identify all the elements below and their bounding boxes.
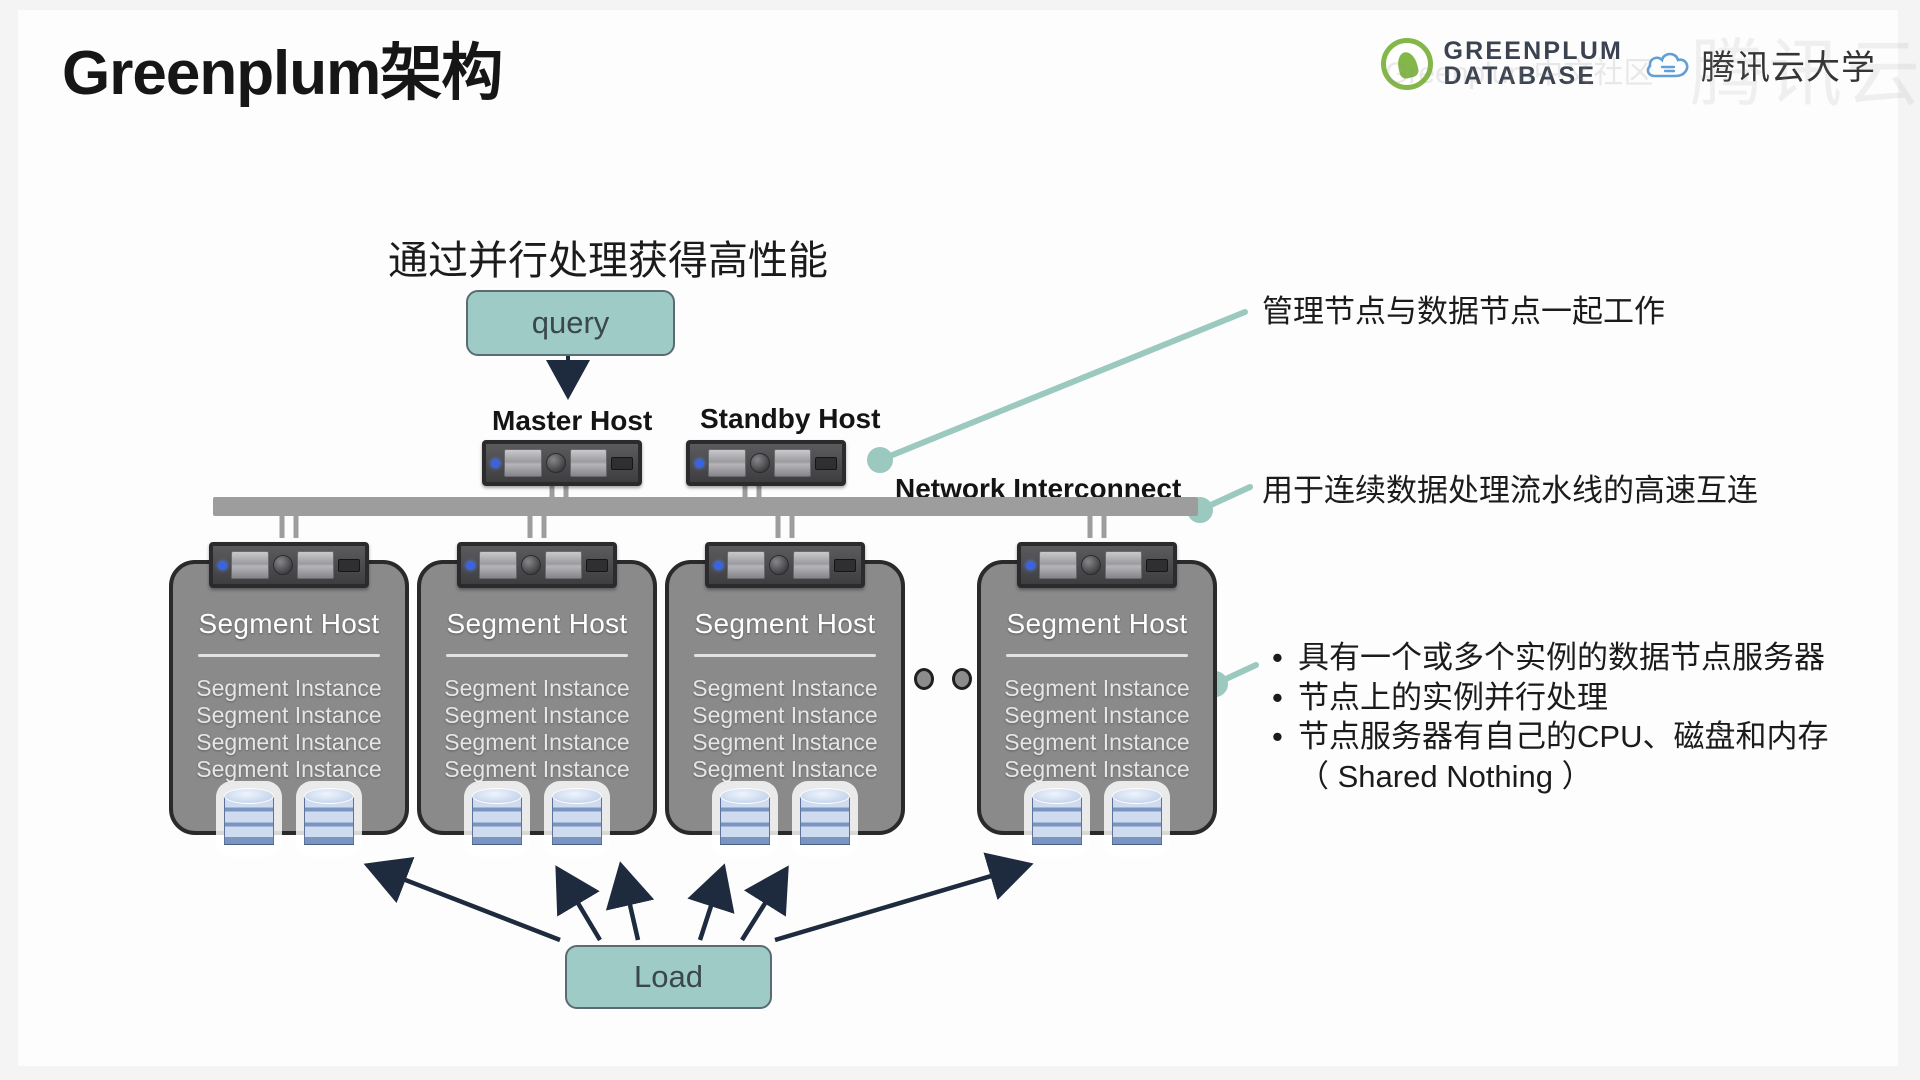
- query-box[interactable]: query: [466, 290, 675, 356]
- dial-knob-icon: [546, 453, 566, 473]
- database-disk-icon: [544, 781, 610, 857]
- drive-bay-icon: [479, 551, 517, 579]
- segment-instance-item: Segment Instance: [981, 756, 1213, 783]
- drive-bay-icon: [774, 449, 812, 477]
- drive-bay-icon: [504, 449, 542, 477]
- database-disk-icon: [216, 781, 282, 857]
- segment-host-divider: [198, 654, 380, 657]
- dial-knob-icon: [750, 453, 770, 473]
- port-icon: [586, 559, 608, 572]
- drive-bay-icon: [231, 551, 269, 579]
- drive-bay-icon: [297, 551, 335, 579]
- segment-host-card[interactable]: Segment Host Segment Instance Segment In…: [417, 560, 657, 835]
- database-disk-icon: [1104, 781, 1170, 857]
- bullet-marker-icon: •: [1272, 717, 1282, 757]
- port-icon: [611, 457, 633, 470]
- segment-instance-item: Segment Instance: [421, 702, 653, 729]
- segment-instance-item: Segment Instance: [421, 675, 653, 702]
- segment-host-card[interactable]: Segment Host Segment Instance Segment In…: [169, 560, 409, 835]
- segment-host-server-icon: [209, 542, 369, 588]
- segment-instance-list: Segment Instance Segment Instance Segmen…: [173, 675, 405, 784]
- segment-host-divider: [694, 654, 876, 657]
- segment-instance-item: Segment Instance: [669, 702, 901, 729]
- load-fanout-arrows: [372, 866, 1025, 940]
- drive-bay-icon: [1105, 551, 1143, 579]
- bullet-text: 节点服务器有自己的CPU、磁盘和内存: [1298, 717, 1828, 757]
- power-led-icon: [218, 561, 227, 570]
- power-led-icon: [1026, 561, 1035, 570]
- disk-pair: [216, 781, 362, 857]
- port-icon: [338, 559, 360, 572]
- segment-instance-item: Segment Instance: [421, 756, 653, 783]
- segment-instance-item: Segment Instance: [173, 756, 405, 783]
- bullet-text: 节点上的实例并行处理: [1298, 678, 1608, 718]
- segment-instance-item: Segment Instance: [173, 675, 405, 702]
- segment-instance-list: Segment Instance Segment Instance Segmen…: [669, 675, 901, 784]
- bullet-item: • 节点上的实例并行处理: [1272, 678, 1828, 718]
- power-led-icon: [466, 561, 475, 570]
- slide-canvas: Greenplum架构 GREENPLUM DATABASE 腾讯云大学 Gre…: [0, 0, 1920, 1080]
- riser-group-bottom: [282, 514, 1104, 538]
- segment-host-title: Segment Host: [669, 608, 901, 640]
- bullet-marker-icon: •: [1272, 678, 1282, 718]
- segment-host-server-icon: [1017, 542, 1177, 588]
- ellipsis-dot: [952, 668, 972, 690]
- power-led-icon: [695, 459, 704, 468]
- dial-knob-icon: [1081, 555, 1101, 575]
- segment-host-title: Segment Host: [981, 608, 1213, 640]
- segment-instance-item: Segment Instance: [173, 702, 405, 729]
- segment-instance-list: Segment Instance Segment Instance Segmen…: [421, 675, 653, 784]
- drive-bay-icon: [793, 551, 831, 579]
- drive-bay-icon: [1039, 551, 1077, 579]
- port-icon: [1146, 559, 1168, 572]
- disk-pair: [464, 781, 610, 857]
- callout-text-management-nodes: 管理节点与数据节点一起工作: [1262, 286, 1665, 331]
- segment-instance-item: Segment Instance: [669, 675, 901, 702]
- bullet-text: 具有一个或多个实例的数据节点服务器: [1298, 638, 1825, 678]
- segment-instance-item: Segment Instance: [669, 729, 901, 756]
- segment-host-title: Segment Host: [173, 608, 405, 640]
- power-led-icon: [714, 561, 723, 570]
- bullet-continuation-text: （ Shared Nothing ）: [1298, 757, 1828, 797]
- master-host-server-icon: [482, 440, 642, 486]
- segment-host-divider: [446, 654, 628, 657]
- ellipsis-dot: [914, 668, 934, 690]
- power-led-icon: [491, 459, 500, 468]
- disk-pair: [1024, 781, 1170, 857]
- dial-knob-icon: [273, 555, 293, 575]
- drive-bay-icon: [727, 551, 765, 579]
- database-disk-icon: [464, 781, 530, 857]
- segment-instance-item: Segment Instance: [981, 675, 1213, 702]
- dial-knob-icon: [769, 555, 789, 575]
- segment-host-card[interactable]: Segment Host Segment Instance Segment In…: [665, 560, 905, 835]
- load-box[interactable]: Load: [565, 945, 772, 1009]
- dial-knob-icon: [521, 555, 541, 575]
- master-host-label: Master Host: [492, 405, 652, 437]
- disk-pair: [712, 781, 858, 857]
- segment-host-title: Segment Host: [421, 608, 653, 640]
- bullet-marker-icon: •: [1272, 638, 1282, 678]
- segment-host-server-icon: [705, 542, 865, 588]
- drive-bay-icon: [570, 449, 608, 477]
- bullet-item: • 节点服务器有自己的CPU、磁盘和内存: [1272, 717, 1828, 757]
- drive-bay-icon: [708, 449, 746, 477]
- port-icon: [834, 559, 856, 572]
- bullet-item: • 具有一个或多个实例的数据节点服务器: [1272, 638, 1828, 678]
- segment-instance-item: Segment Instance: [173, 729, 405, 756]
- segment-instance-item: Segment Instance: [981, 729, 1213, 756]
- drive-bay-icon: [545, 551, 583, 579]
- diagram-connectors: [0, 0, 1920, 1080]
- segment-instance-list: Segment Instance Segment Instance Segmen…: [981, 675, 1213, 784]
- architecture-diagram: 通过并行处理获得高性能 query Master Host Standby Ho…: [0, 0, 1920, 1080]
- network-interconnect-bar: [213, 497, 1198, 516]
- segment-instance-item: Segment Instance: [421, 729, 653, 756]
- callout-bullet-list: • 具有一个或多个实例的数据节点服务器 • 节点上的实例并行处理 • 节点服务器…: [1272, 638, 1828, 797]
- segment-host-server-icon: [457, 542, 617, 588]
- callout-text-interconnect: 用于连续数据处理流水线的高速互连: [1262, 465, 1758, 510]
- database-disk-icon: [1024, 781, 1090, 857]
- segment-instance-item: Segment Instance: [981, 702, 1213, 729]
- database-disk-icon: [712, 781, 778, 857]
- port-icon: [815, 457, 837, 470]
- parallel-processing-heading: 通过并行处理获得高性能: [388, 228, 828, 286]
- segment-host-card[interactable]: Segment Host Segment Instance Segment In…: [977, 560, 1217, 835]
- database-disk-icon: [296, 781, 362, 857]
- standby-host-label: Standby Host: [700, 403, 880, 435]
- segment-host-divider: [1006, 654, 1188, 657]
- segment-instance-item: Segment Instance: [669, 756, 901, 783]
- database-disk-icon: [792, 781, 858, 857]
- standby-host-server-icon: [686, 440, 846, 486]
